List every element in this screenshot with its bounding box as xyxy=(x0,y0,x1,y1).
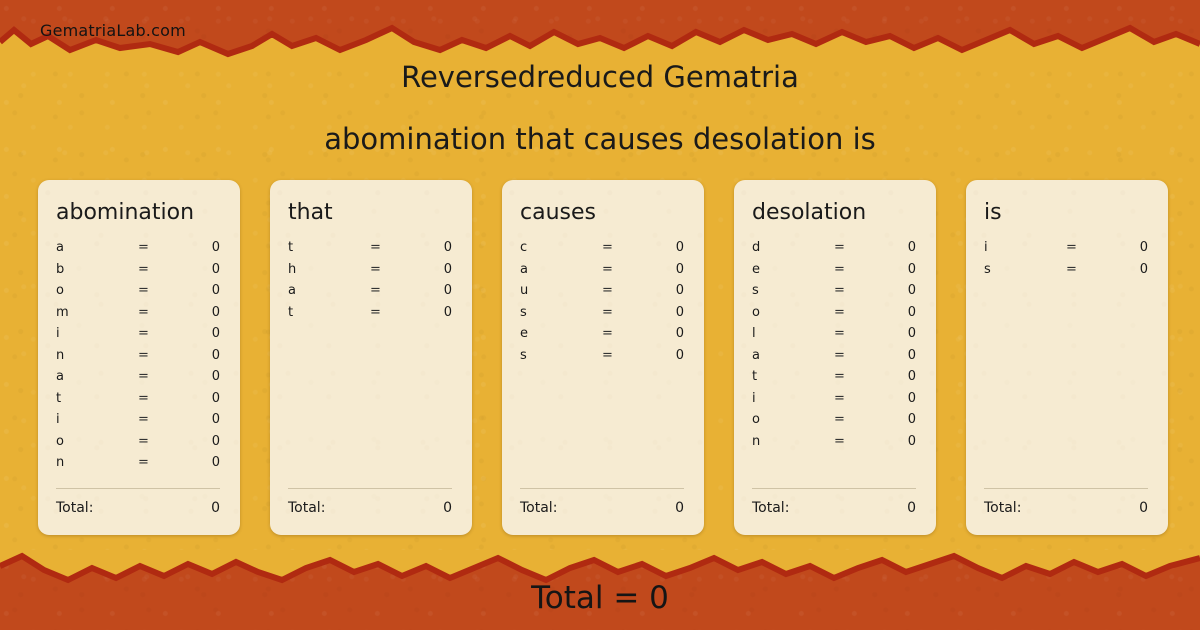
letter-value: 0 xyxy=(646,283,684,298)
letter-value: 0 xyxy=(878,369,916,384)
letter-label: b xyxy=(56,262,138,277)
letter-row: s = 0 xyxy=(520,348,684,370)
letter-row: t = 0 xyxy=(288,305,452,327)
letter-row: s = 0 xyxy=(984,262,1148,284)
word-card-title: causes xyxy=(520,202,684,224)
letter-row: i = 0 xyxy=(56,326,220,348)
letter-label: o xyxy=(56,434,138,449)
equals-sign: = xyxy=(834,412,878,427)
letter-row: u = 0 xyxy=(520,283,684,305)
equals-sign: = xyxy=(138,283,182,298)
letter-value: 0 xyxy=(182,262,220,277)
equals-sign: = xyxy=(370,262,414,277)
letter-label: i xyxy=(56,412,138,427)
equals-sign: = xyxy=(834,305,878,320)
equals-sign: = xyxy=(602,262,646,277)
letter-value: 0 xyxy=(182,369,220,384)
letter-label: o xyxy=(752,305,834,320)
letter-value: 0 xyxy=(182,391,220,406)
equals-sign: = xyxy=(834,240,878,255)
total-label: Total: xyxy=(752,500,907,516)
equals-sign: = xyxy=(138,369,182,384)
letter-row: i = 0 xyxy=(56,412,220,434)
site-watermark: GematriaLab.com xyxy=(40,21,186,40)
letter-row: h = 0 xyxy=(288,262,452,284)
total-label: Total: xyxy=(984,500,1139,516)
letter-value: 0 xyxy=(646,262,684,277)
total-label: Total: xyxy=(288,500,443,516)
letter-value: 0 xyxy=(878,283,916,298)
letter-row-list: a = 0 b = 0 o = 0 m = 0 xyxy=(56,240,220,477)
letter-row: b = 0 xyxy=(56,262,220,284)
equals-sign: = xyxy=(138,240,182,255)
card-total: Total: 0 xyxy=(752,488,916,516)
letter-label: d xyxy=(752,240,834,255)
letter-row: n = 0 xyxy=(752,434,916,456)
equals-sign: = xyxy=(370,305,414,320)
total-divider xyxy=(752,488,916,489)
letter-label: c xyxy=(520,240,602,255)
card-total: Total: 0 xyxy=(288,488,452,516)
word-card: that t = 0 h = 0 a = 0 t xyxy=(270,180,472,535)
equals-sign: = xyxy=(834,283,878,298)
equals-sign: = xyxy=(834,369,878,384)
total-value: 0 xyxy=(443,500,452,516)
equals-sign: = xyxy=(138,326,182,341)
letter-row: o = 0 xyxy=(56,283,220,305)
phrase-heading: abomination that causes desolation is xyxy=(0,122,1200,156)
letter-label: a xyxy=(56,240,138,255)
equals-sign: = xyxy=(834,348,878,363)
gematria-result-page: GematriaLab.com Reversedreduced Gematria… xyxy=(0,0,1200,630)
word-card-title: is xyxy=(984,202,1148,224)
equals-sign: = xyxy=(602,240,646,255)
letter-value: 0 xyxy=(878,391,916,406)
letter-row: n = 0 xyxy=(56,348,220,370)
equals-sign: = xyxy=(834,434,878,449)
letter-label: o xyxy=(56,283,138,298)
word-card: abomination a = 0 b = 0 o = 0 xyxy=(38,180,240,535)
letter-label: t xyxy=(288,305,370,320)
word-card-title: that xyxy=(288,202,452,224)
word-card: desolation d = 0 e = 0 s = 0 o xyxy=(734,180,936,535)
grand-total: Total = 0 xyxy=(0,580,1200,616)
equals-sign: = xyxy=(138,391,182,406)
letter-label: i xyxy=(984,240,1066,255)
equals-sign: = xyxy=(138,412,182,427)
equals-sign: = xyxy=(834,391,878,406)
equals-sign: = xyxy=(138,455,182,470)
total-value: 0 xyxy=(675,500,684,516)
letter-row-list: d = 0 e = 0 s = 0 o = 0 xyxy=(752,240,916,455)
letter-value: 0 xyxy=(646,305,684,320)
letter-row: t = 0 xyxy=(752,369,916,391)
total-divider xyxy=(520,488,684,489)
paper-texture-card xyxy=(966,180,1168,535)
letter-label: o xyxy=(752,412,834,427)
letter-value: 0 xyxy=(182,240,220,255)
equals-sign: = xyxy=(602,348,646,363)
card-total: Total: 0 xyxy=(520,488,684,516)
letter-label: m xyxy=(56,305,138,320)
letter-value: 0 xyxy=(182,412,220,427)
equals-sign: = xyxy=(1066,240,1110,255)
letter-row: m = 0 xyxy=(56,305,220,327)
letter-value: 0 xyxy=(878,262,916,277)
word-card-title: desolation xyxy=(752,202,916,224)
letter-row: s = 0 xyxy=(752,283,916,305)
letter-row-list: t = 0 h = 0 a = 0 t = 0 xyxy=(288,240,452,326)
letter-value: 0 xyxy=(182,283,220,298)
letter-value: 0 xyxy=(414,262,452,277)
total-label: Total: xyxy=(56,500,211,516)
equals-sign: = xyxy=(370,283,414,298)
letter-row: c = 0 xyxy=(520,240,684,262)
letter-row: t = 0 xyxy=(288,240,452,262)
equals-sign: = xyxy=(602,326,646,341)
letter-value: 0 xyxy=(182,455,220,470)
letter-row: t = 0 xyxy=(56,391,220,413)
word-card: causes c = 0 a = 0 u = 0 s xyxy=(502,180,704,535)
letter-row: a = 0 xyxy=(520,262,684,284)
equals-sign: = xyxy=(138,305,182,320)
letter-label: n xyxy=(752,434,834,449)
total-divider xyxy=(288,488,452,489)
card-total: Total: 0 xyxy=(56,488,220,516)
letter-value: 0 xyxy=(878,240,916,255)
letter-label: s xyxy=(520,348,602,363)
letter-value: 0 xyxy=(646,240,684,255)
letter-label: e xyxy=(752,262,834,277)
equals-sign: = xyxy=(138,348,182,363)
letter-label: a xyxy=(752,348,834,363)
letter-label: t xyxy=(752,369,834,384)
equals-sign: = xyxy=(834,262,878,277)
equals-sign: = xyxy=(370,240,414,255)
letter-value: 0 xyxy=(182,348,220,363)
letter-label: h xyxy=(288,262,370,277)
letter-label: n xyxy=(56,348,138,363)
equals-sign: = xyxy=(1066,262,1110,277)
equals-sign: = xyxy=(138,262,182,277)
letter-row: i = 0 xyxy=(752,391,916,413)
letter-value: 0 xyxy=(182,434,220,449)
letter-value: 0 xyxy=(414,240,452,255)
letter-label: l xyxy=(752,326,834,341)
letter-label: t xyxy=(56,391,138,406)
letter-row: s = 0 xyxy=(520,305,684,327)
letter-value: 0 xyxy=(878,412,916,427)
letter-value: 0 xyxy=(414,283,452,298)
letter-row-list: i = 0 s = 0 xyxy=(984,240,1148,283)
letter-label: s xyxy=(752,283,834,298)
equals-sign: = xyxy=(602,305,646,320)
letter-label: s xyxy=(984,262,1066,277)
letter-label: i xyxy=(752,391,834,406)
total-label: Total: xyxy=(520,500,675,516)
letter-row: o = 0 xyxy=(752,412,916,434)
equals-sign: = xyxy=(834,326,878,341)
letter-value: 0 xyxy=(1110,240,1148,255)
total-value: 0 xyxy=(907,500,916,516)
word-card-list: abomination a = 0 b = 0 o = 0 xyxy=(38,180,1200,535)
word-card-title: abomination xyxy=(56,202,220,224)
letter-row: e = 0 xyxy=(520,326,684,348)
letter-label: u xyxy=(520,283,602,298)
letter-row: a = 0 xyxy=(56,369,220,391)
letter-row: i = 0 xyxy=(984,240,1148,262)
letter-label: s xyxy=(520,305,602,320)
letter-label: t xyxy=(288,240,370,255)
letter-value: 0 xyxy=(1110,262,1148,277)
equals-sign: = xyxy=(602,283,646,298)
letter-row: e = 0 xyxy=(752,262,916,284)
letter-row: a = 0 xyxy=(56,240,220,262)
total-divider xyxy=(984,488,1148,489)
letter-row: l = 0 xyxy=(752,326,916,348)
letter-row: n = 0 xyxy=(56,455,220,477)
letter-label: e xyxy=(520,326,602,341)
letter-row: d = 0 xyxy=(752,240,916,262)
total-divider xyxy=(56,488,220,489)
equals-sign: = xyxy=(138,434,182,449)
letter-value: 0 xyxy=(878,305,916,320)
letter-value: 0 xyxy=(182,326,220,341)
card-total: Total: 0 xyxy=(984,488,1148,516)
letter-row: a = 0 xyxy=(752,348,916,370)
letter-label: a xyxy=(56,369,138,384)
total-value: 0 xyxy=(211,500,220,516)
total-value: 0 xyxy=(1139,500,1148,516)
letter-value: 0 xyxy=(878,348,916,363)
letter-value: 0 xyxy=(878,434,916,449)
letter-value: 0 xyxy=(646,348,684,363)
letter-label: n xyxy=(56,455,138,470)
word-card: is i = 0 s = 0 Total: 0 xyxy=(966,180,1168,535)
letter-row-list: c = 0 a = 0 u = 0 s = 0 xyxy=(520,240,684,369)
letter-value: 0 xyxy=(878,326,916,341)
letter-label: i xyxy=(56,326,138,341)
letter-label: a xyxy=(288,283,370,298)
letter-row: o = 0 xyxy=(752,305,916,327)
letter-value: 0 xyxy=(646,326,684,341)
letter-label: a xyxy=(520,262,602,277)
letter-value: 0 xyxy=(182,305,220,320)
letter-row: o = 0 xyxy=(56,434,220,456)
paper-texture-card xyxy=(270,180,472,535)
cipher-title: Reversedreduced Gematria xyxy=(0,60,1200,94)
letter-row: a = 0 xyxy=(288,283,452,305)
letter-value: 0 xyxy=(414,305,452,320)
